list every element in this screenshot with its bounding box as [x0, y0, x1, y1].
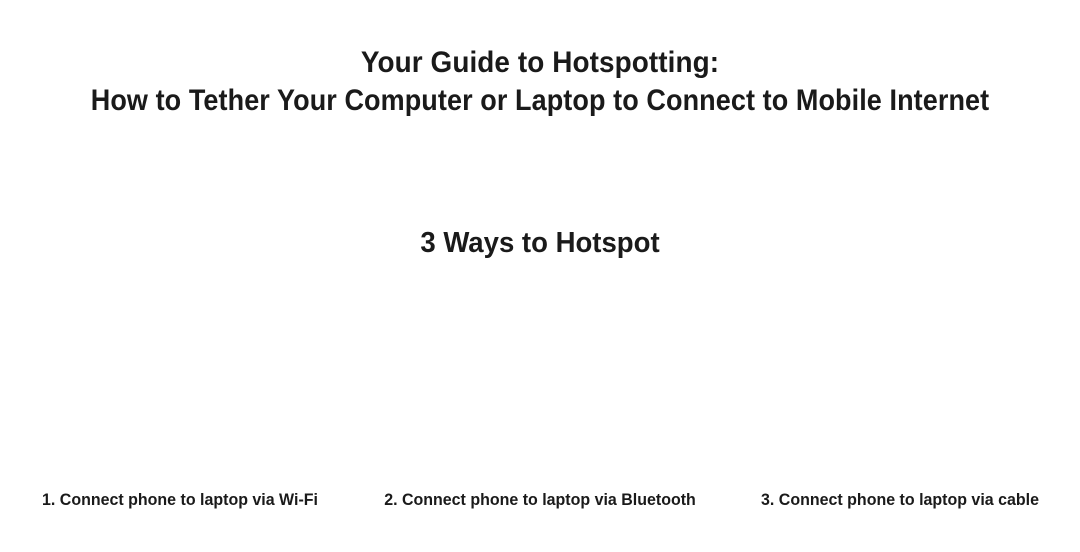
methods-illustration-row [0, 292, 1080, 478]
page-title: Your Guide to Hotspotting: How to Tether… [0, 44, 1080, 120]
method-column-3 [720, 292, 1080, 478]
method-caption-2: 2. Connect phone to laptop via Bluetooth [371, 489, 709, 511]
wifi-tethering-illustration [0, 308, 360, 478]
method-column-1 [0, 292, 360, 478]
page-title-line-1: Your Guide to Hotspotting: [38, 44, 1042, 82]
section-heading: 3 Ways to Hotspot [27, 224, 1053, 262]
bluetooth-tethering-illustration [360, 308, 720, 478]
page-title-line-2: How to Tether Your Computer or Laptop to… [54, 82, 1026, 120]
method-caption-3: 3. Connect phone to laptop via cable [731, 489, 1069, 511]
method-column-2 [360, 292, 720, 478]
method-caption-1: 1. Connect phone to laptop via Wi-Fi [11, 489, 349, 511]
cable-tethering-illustration [720, 308, 1080, 478]
document-page: Your Guide to Hotspotting: How to Tether… [0, 0, 1080, 552]
methods-caption-row: 1. Connect phone to laptop via Wi-Fi 2. … [0, 487, 1080, 513]
